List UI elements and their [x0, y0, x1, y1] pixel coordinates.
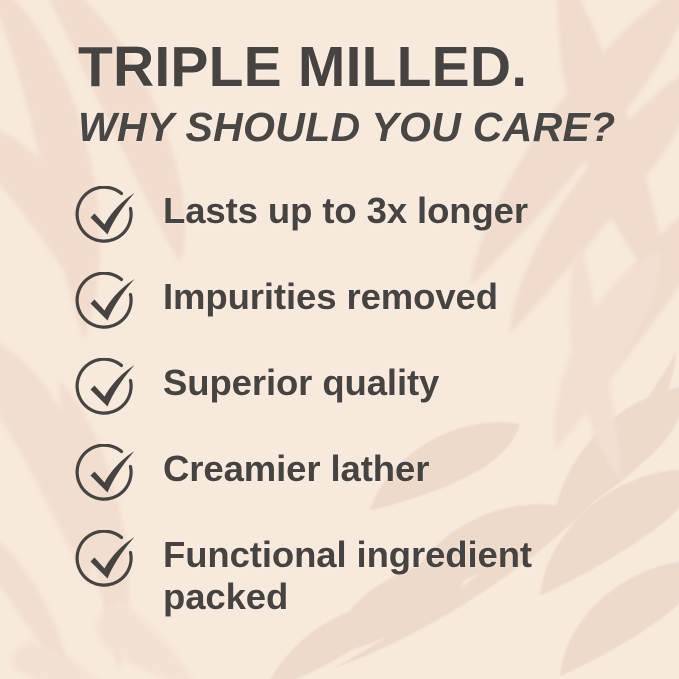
check-circle-icon	[74, 358, 142, 424]
product-benefits-poster: TRIPLE MILLED. WHY SHOULD YOU CARE? Last…	[0, 0, 679, 679]
poster-content: TRIPLE MILLED. WHY SHOULD YOU CARE? Last…	[0, 0, 679, 679]
page-subtitle: WHY SHOULD YOU CARE?	[78, 106, 638, 149]
check-circle-icon	[74, 272, 142, 338]
list-item: Creamier lather	[74, 444, 654, 516]
list-item: Lasts up to 3x longer	[74, 186, 654, 258]
list-item: Superior quality	[74, 358, 654, 430]
list-item-label: Impurities removed	[163, 272, 654, 318]
list-item: Impurities removed	[74, 272, 654, 344]
list-item-label: Creamier lather	[163, 444, 654, 490]
list-item-label: Functional ingredient packed	[163, 530, 654, 618]
benefits-list: Lasts up to 3x longer Impurities removed	[74, 186, 654, 632]
check-circle-icon	[74, 530, 142, 596]
list-item-label: Lasts up to 3x longer	[163, 186, 654, 232]
list-item-label: Superior quality	[163, 358, 654, 404]
headline-block: TRIPLE MILLED. WHY SHOULD YOU CARE?	[78, 38, 638, 149]
page-title: TRIPLE MILLED.	[78, 38, 638, 96]
check-circle-icon	[74, 186, 142, 252]
list-item: Functional ingredient packed	[74, 530, 654, 618]
check-circle-icon	[74, 444, 142, 510]
